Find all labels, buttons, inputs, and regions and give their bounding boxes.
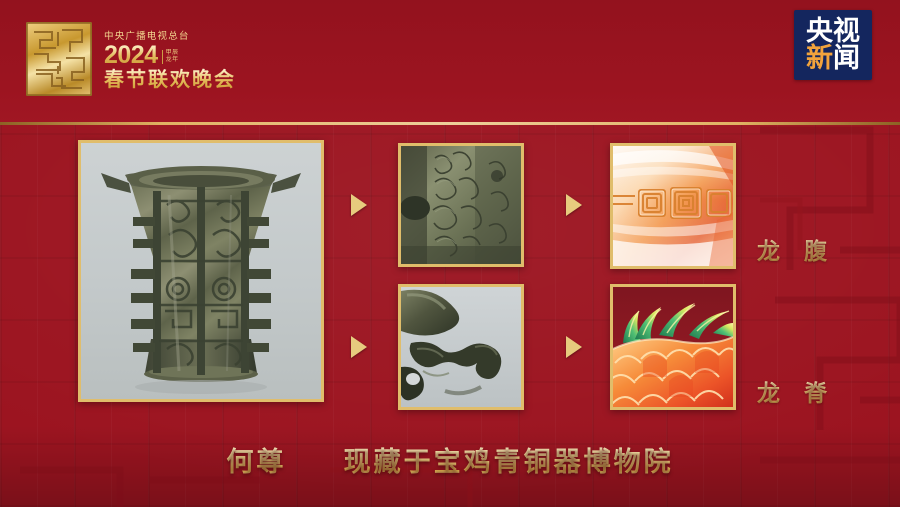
gala-program-name: 春节联欢晚会 [104,68,236,90]
cctv-logo-line-1: 央视 [806,18,860,45]
zodiac-mark-top: 甲辰 [166,50,179,57]
artifact-location: 现藏于宝鸡青铜器博物院 [344,447,674,478]
label-dragon-belly: 龙 腹 [757,232,835,266]
zodiac-mark-bottom: 龙年 [166,57,179,64]
cctv-logo-text-xin: 新 [806,45,833,72]
gala-year: 2024 [104,43,158,67]
arrow-row2-step2 [566,336,582,358]
arrow-row2-step1 [351,336,367,358]
broadcaster-name: 中央广播电视总台 [104,28,236,42]
artifact-caption: 何尊 现藏于宝鸡青铜器博物院 [0,440,900,479]
he-zun-bronze-vessel-photo [78,140,324,402]
caption-spacer [299,447,331,478]
cctv-logo-text-yangshi: 央视 [806,18,860,45]
broadcast-graphic-stage: 中央广播电视总台 2024 甲辰 龙年 春节联欢晚会 央视 新 闻 [0,0,900,507]
artifact-name: 何尊 [226,447,286,478]
bronze-surface-relief-detail-photo [398,143,524,267]
spring-festival-seal-icon [26,22,92,96]
dragon-spine-scales-render [610,284,736,410]
dragon-belly-spiral-pattern-render [610,143,736,269]
label-dragon-spine: 龙 脊 [757,374,835,408]
spring-festival-gala-logo: 中央广播电视总台 2024 甲辰 龙年 春节联欢晚会 [26,22,236,96]
cctv-logo-line-2: 新 闻 [806,45,860,72]
gala-logo-text: 中央广播电视总台 2024 甲辰 龙年 春节联欢晚会 [104,28,236,90]
arrow-row1-step1 [351,194,367,216]
header-gold-divider [0,122,900,125]
arrow-row1-step2 [566,194,582,216]
cctv-news-logo-icon: 央视 新 闻 [794,10,872,80]
bronze-flange-ridge-detail-photo [398,284,524,410]
gala-year-zodiac-mark: 甲辰 龙年 [162,50,179,64]
gala-year-row: 2024 甲辰 龙年 [104,43,236,67]
cctv-logo-text-wen: 闻 [833,45,860,72]
